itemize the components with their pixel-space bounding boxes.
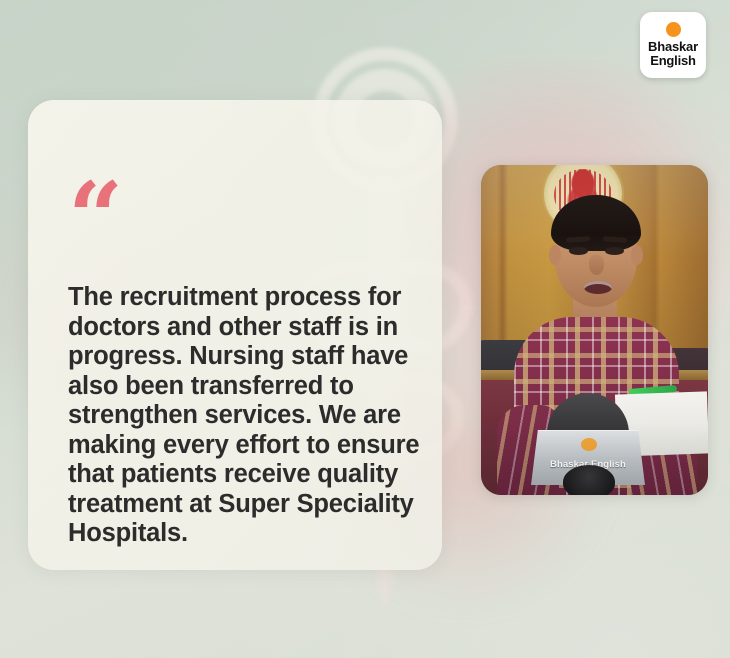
quote-card: “ The recruitment process for doctors an… [28,100,442,570]
quote-text: The recruitment process for doctors and … [68,283,428,549]
logo-text-line-2: English [650,54,696,68]
bhaskar-english-logo: Bhaskar English [640,12,706,78]
quote-card-graphic: “ The recruitment process for doctors an… [0,0,730,658]
logo-text-line-1: Bhaskar [648,40,698,54]
logo-dot-icon [666,22,681,37]
subject-photo: Bhaskar English [481,165,708,495]
photo-vignette [481,165,708,495]
